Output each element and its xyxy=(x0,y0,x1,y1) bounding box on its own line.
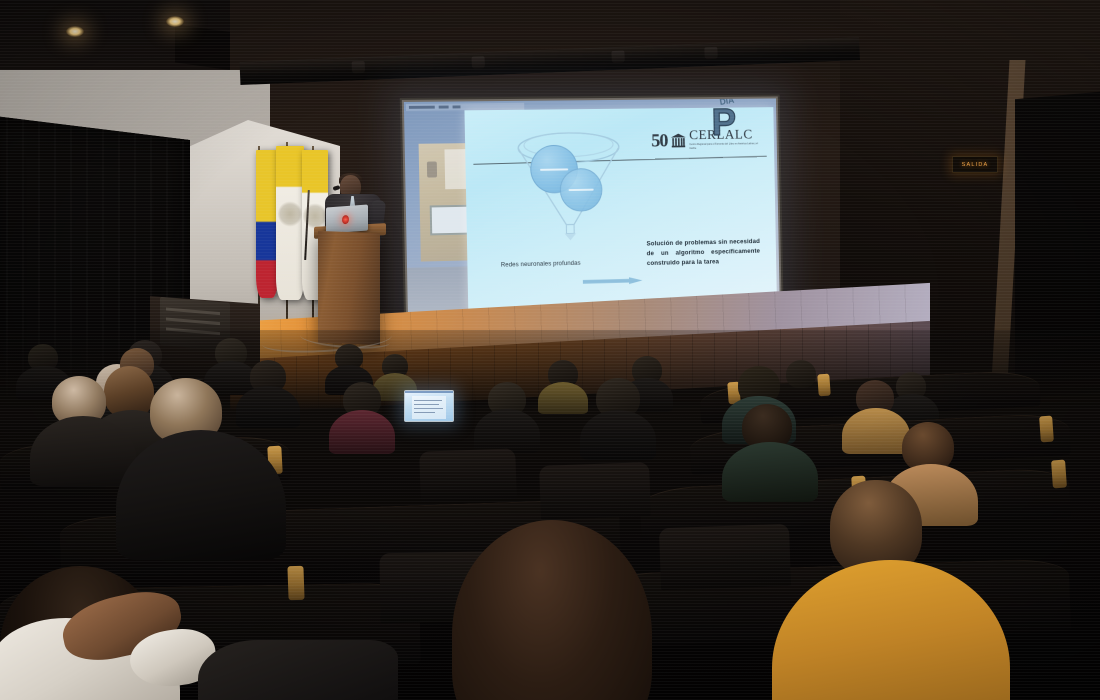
cerlalc-logo: 50 CERLALC C xyxy=(651,125,769,156)
seat xyxy=(659,524,791,590)
exit-sign: SALIDA xyxy=(952,156,998,173)
shoulders xyxy=(538,382,588,414)
wallpaper-object xyxy=(427,161,437,177)
shoulders xyxy=(842,408,910,454)
seat-wood-trim xyxy=(1039,416,1054,443)
truss-lamp xyxy=(704,47,717,60)
truss-lamp xyxy=(472,56,485,69)
downlight xyxy=(166,16,184,27)
svg-text:DÍA: DÍA xyxy=(719,98,735,106)
presenter-laptop xyxy=(326,205,368,234)
institutional-flag-1 xyxy=(276,146,304,300)
seat-wood-trim xyxy=(1051,460,1067,489)
shoulders xyxy=(329,410,395,454)
projected-desktop: 50 CERLALC C xyxy=(404,98,780,325)
audience-laptop xyxy=(404,390,454,422)
laptop-document xyxy=(412,396,447,418)
slide-label-redes-neuronales: Redes neuronales profundas xyxy=(499,260,583,270)
laptop-indicator-light xyxy=(342,215,349,224)
anniversary-50-label: 50 xyxy=(651,131,668,150)
downlight xyxy=(66,26,84,37)
truss-lamp xyxy=(611,51,624,64)
cerlalc-wordmark: CERLALC Centro Regional para el Fomento … xyxy=(689,128,763,151)
shoulders xyxy=(236,386,300,428)
cerlalc-subtitle: Centro Regional para el Fomento del Libr… xyxy=(689,143,763,151)
seat-wood-trim xyxy=(287,566,304,601)
audience-area xyxy=(0,330,1100,700)
slide-body-text: Solución de problemas sin necesidad de u… xyxy=(646,237,760,269)
seat xyxy=(419,448,517,501)
exit-sign-label: SALIDA xyxy=(962,162,989,168)
presentation-slide: 50 CERLALC C xyxy=(464,107,776,313)
cerlalc-name: CERLALC xyxy=(689,128,763,143)
laptop-screen xyxy=(405,391,453,421)
flag-crest xyxy=(278,201,302,227)
dark-sleeve xyxy=(198,640,398,700)
colombia-flag xyxy=(256,150,278,298)
auditorium-photo: SALIDA xyxy=(0,0,1100,700)
seat xyxy=(539,462,651,520)
right-arrow-icon xyxy=(583,271,643,279)
unesco-building-icon xyxy=(670,132,686,149)
shoulders xyxy=(474,409,540,453)
funnel-diagram xyxy=(508,130,636,242)
truss-lamp xyxy=(352,61,365,74)
shoulders xyxy=(580,410,656,460)
